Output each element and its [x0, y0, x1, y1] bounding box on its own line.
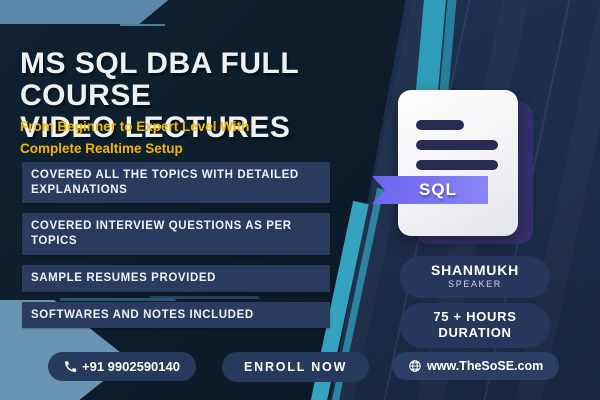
list-item: SAMPLE RESUMES PROVIDED: [22, 265, 330, 292]
document-text-line: [416, 160, 498, 170]
sql-ribbon-label: SQL: [403, 180, 457, 200]
subtitle: From Beginner to Expert Level With Compl…: [20, 116, 340, 160]
top-left-outline-decoration: [120, 0, 182, 26]
globe-icon: [408, 359, 422, 373]
enroll-now-label: ENROLL NOW: [244, 360, 347, 374]
document-text-line: [416, 120, 464, 130]
duration-line-2: DURATION: [400, 325, 550, 341]
subtitle-line-2: Complete Realtime Setup: [20, 138, 340, 160]
list-item: SOFTWARES AND NOTES INCLUDED: [22, 302, 330, 329]
headline-line-1: MS SQL DBA FULL COURSE: [20, 47, 299, 112]
subtitle-line-1: From Beginner to Expert Level With: [20, 116, 340, 138]
phone-contact-pill[interactable]: +91 9902590140: [48, 352, 196, 381]
speaker-name: SHANMUKH: [400, 262, 550, 278]
speaker-role: SPEAKER: [400, 278, 550, 291]
enroll-now-button[interactable]: ENROLL NOW: [222, 352, 369, 382]
document-text-line: [416, 140, 498, 150]
duration-badge: 75 + HOURS DURATION: [400, 303, 550, 348]
sql-ribbon-badge: SQL: [372, 176, 488, 204]
list-item: COVERED ALL THE TOPICS WITH DETAILED EXP…: [22, 162, 330, 203]
poster-canvas: MS SQL DBA FULL COURSE VIDEO LECTURES Fr…: [0, 0, 600, 400]
sql-document-graphic: SQL: [393, 88, 543, 248]
speaker-badge: SHANMUKH SPEAKER: [400, 256, 550, 298]
list-item: COVERED INTERVIEW QUESTIONS AS PER TOPIC…: [22, 213, 330, 254]
website-url: www.TheSoSE.com: [427, 359, 543, 373]
feature-list: COVERED ALL THE TOPICS WITH DETAILED EXP…: [22, 162, 330, 338]
document-icon: [398, 90, 518, 236]
website-pill[interactable]: www.TheSoSE.com: [392, 352, 559, 380]
phone-number: +91 9902590140: [82, 359, 180, 374]
duration-line-1: 75 + HOURS: [400, 309, 550, 325]
phone-icon: [64, 360, 77, 373]
